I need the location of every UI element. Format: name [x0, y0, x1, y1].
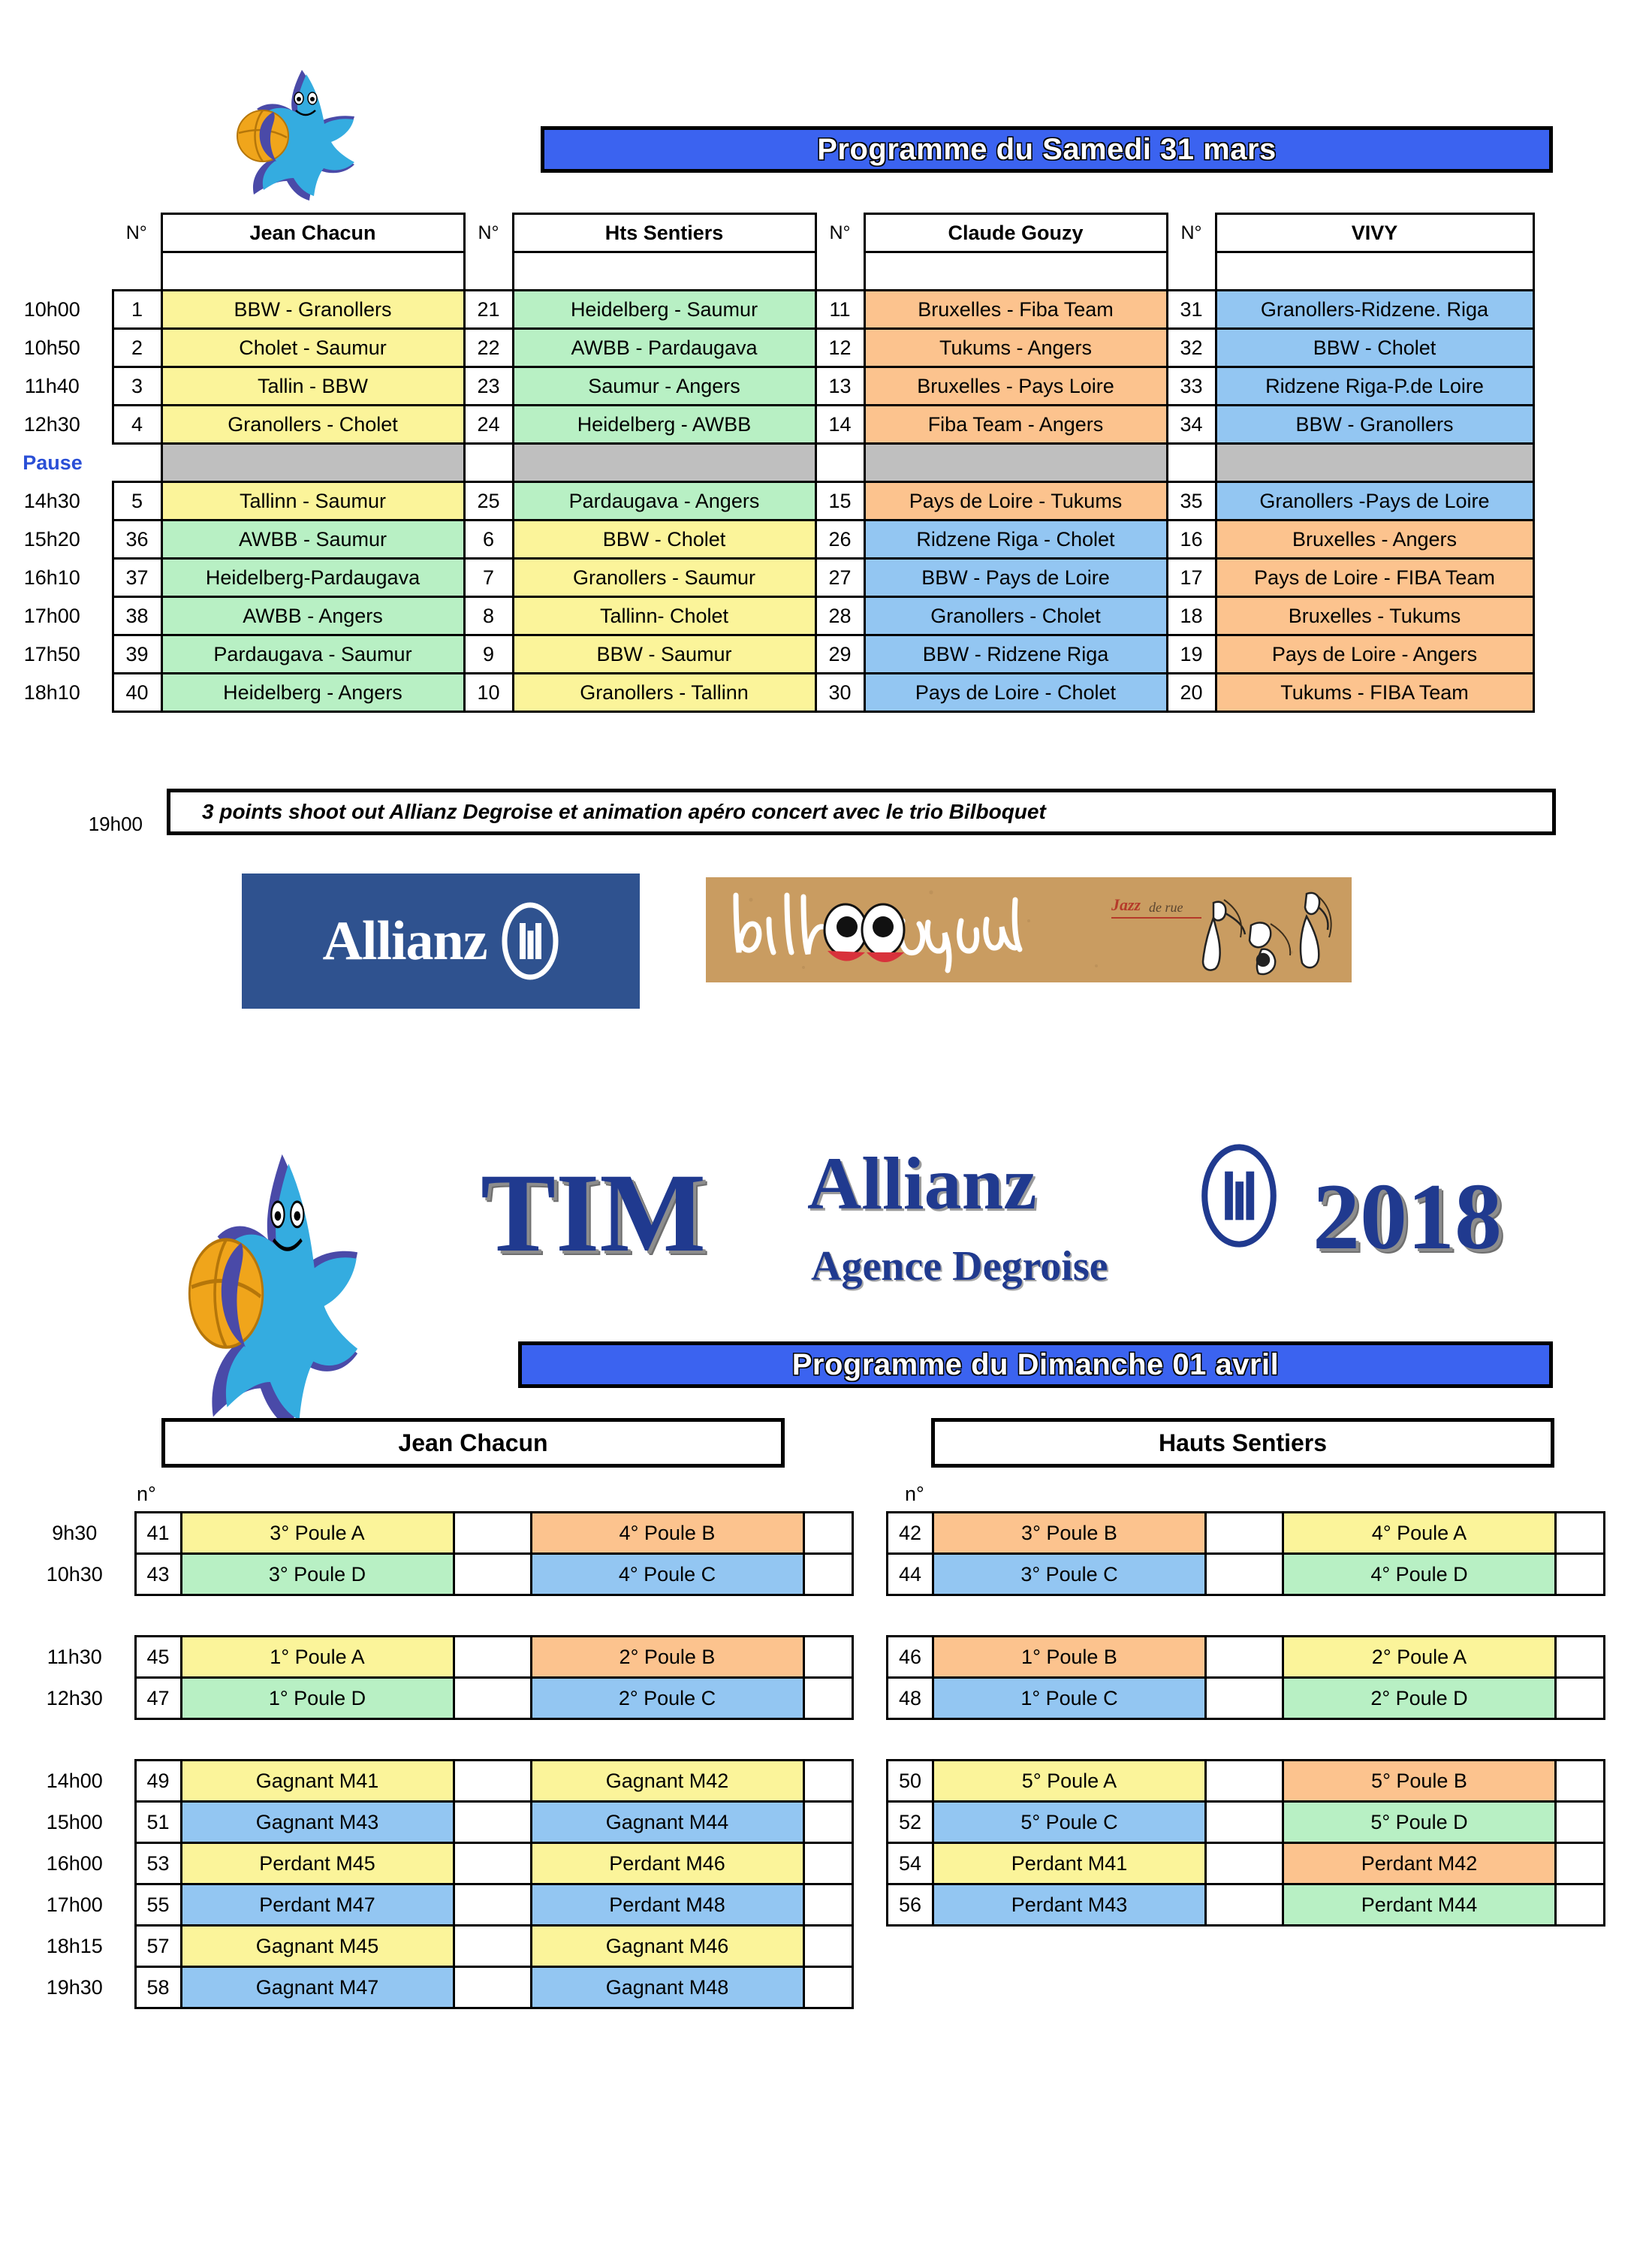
- score-cell-b[interactable]: [1556, 1637, 1605, 1678]
- sunday-left-court-header: Jean Chacun: [161, 1418, 785, 1468]
- match-number[interactable]: 49: [135, 1761, 181, 1802]
- match-team-b[interactable]: Perdant M46: [531, 1843, 803, 1884]
- match-number[interactable]: 43: [135, 1554, 181, 1595]
- match-team-b[interactable]: Gagnant M48: [531, 1967, 803, 2008]
- sunday-right-n-label: n°: [905, 1483, 924, 1506]
- match-team-a[interactable]: 1° Poule C: [933, 1678, 1206, 1719]
- pause-label: Pause: [0, 444, 113, 482]
- score-cell-b[interactable]: [1556, 1554, 1605, 1595]
- match-cell[interactable]: Tallinn- Cholet: [513, 597, 815, 635]
- evening-event-time: 19h00: [23, 813, 143, 836]
- pause-cell: [513, 444, 815, 482]
- list-item: 56Perdant M43Perdant M44: [888, 1884, 1605, 1926]
- table-row: 10h502Cholet - Saumur22AWBB - Pardaugava…: [0, 329, 1533, 367]
- match-number[interactable]: 15: [815, 482, 864, 520]
- match-cell[interactable]: Bruxelles - Fiba Team: [864, 291, 1167, 329]
- match-number[interactable]: 48: [888, 1678, 933, 1719]
- score-cell-b[interactable]: [803, 1926, 852, 1967]
- match-team-a[interactable]: Gagnant M41: [181, 1761, 454, 1802]
- match-team-a[interactable]: Perdant M45: [181, 1843, 454, 1884]
- tim-allianz-wordmark: Allianz: [807, 1146, 1037, 1221]
- match-number[interactable]: 16: [1167, 520, 1216, 559]
- court-header-3: Claude Gouzy: [864, 214, 1167, 252]
- sunday-group-gap: [23, 1719, 852, 1761]
- court-header-2: Hts Sentiers: [513, 214, 815, 252]
- match-cell[interactable]: Bruxelles - Angers: [1216, 520, 1533, 559]
- list-item: 11h30451° Poule A2° Poule B: [23, 1637, 852, 1678]
- match-number[interactable]: 54: [888, 1843, 933, 1884]
- match-number[interactable]: 58: [135, 1967, 181, 2008]
- match-cell[interactable]: Ridzene Riga - Cholet: [864, 520, 1167, 559]
- list-item: 525° Poule C5° Poule D: [888, 1802, 1605, 1843]
- match-time: 12h30: [23, 1678, 135, 1719]
- score-cell-a[interactable]: [1206, 1802, 1283, 1843]
- score-cell-a[interactable]: [454, 1513, 531, 1554]
- match-cell[interactable]: AWBB - Pardaugava: [513, 329, 815, 367]
- table-row: 14h305Tallinn - Saumur25Pardaugava - Ang…: [0, 482, 1533, 520]
- table-row: 17h5039Pardaugava - Saumur9BBW - Saumur2…: [0, 635, 1533, 674]
- match-number[interactable]: 34: [1167, 406, 1216, 444]
- octopus-mascot-top-icon: [218, 64, 390, 207]
- match-cell[interactable]: Ridzene Riga-P.de Loire: [1216, 367, 1533, 406]
- score-cell-b[interactable]: [803, 1554, 852, 1595]
- score-cell-a[interactable]: [1206, 1554, 1283, 1595]
- match-team-a[interactable]: 1° Poule D: [181, 1678, 454, 1719]
- match-number[interactable]: 20: [1167, 674, 1216, 712]
- match-number[interactable]: 55: [135, 1884, 181, 1926]
- match-time: 10h00: [0, 291, 113, 329]
- match-number[interactable]: 47: [135, 1678, 181, 1719]
- match-team-b[interactable]: 2° Poule B: [531, 1637, 803, 1678]
- match-cell[interactable]: Pays de Loire - Tukums: [864, 482, 1167, 520]
- match-team-b[interactable]: Perdant M42: [1283, 1843, 1556, 1884]
- match-number[interactable]: 24: [464, 406, 513, 444]
- match-number[interactable]: 8: [464, 597, 513, 635]
- match-number[interactable]: 42: [888, 1513, 933, 1554]
- score-cell-a[interactable]: [1206, 1843, 1283, 1884]
- list-item: 15h0051Gagnant M43Gagnant M44: [23, 1802, 852, 1843]
- match-team-a[interactable]: 5° Poule A: [933, 1761, 1206, 1802]
- score-cell-b[interactable]: [1556, 1761, 1605, 1802]
- list-item: 505° Poule A5° Poule B: [888, 1761, 1605, 1802]
- allianz-bars-icon-secondary: [1194, 1143, 1284, 1248]
- score-cell-a[interactable]: [454, 1554, 531, 1595]
- match-time: 19h30: [23, 1967, 135, 2008]
- match-cell[interactable]: Pardaugava - Saumur: [161, 635, 464, 674]
- match-time: 10h30: [23, 1554, 135, 1595]
- score-cell-b[interactable]: [803, 1761, 852, 1802]
- svg-text:de rue: de rue: [1149, 900, 1183, 915]
- match-time: 18h10: [0, 674, 113, 712]
- match-number[interactable]: 25: [464, 482, 513, 520]
- match-cell[interactable]: Tukums - Angers: [864, 329, 1167, 367]
- match-team-a[interactable]: Perdant M47: [181, 1884, 454, 1926]
- list-item: 10h30433° Poule D4° Poule C: [23, 1554, 852, 1595]
- tim-allianz-2018-logo: TIM Allianz Agence Degroise 2018: [481, 1149, 1562, 1337]
- court-num-label: N°: [113, 214, 161, 252]
- saturday-pause-row: Pause: [0, 444, 1533, 482]
- match-team-b[interactable]: Perdant M48: [531, 1884, 803, 1926]
- match-number[interactable]: 22: [464, 329, 513, 367]
- match-cell[interactable]: BBW - Cholet: [1216, 329, 1533, 367]
- match-number[interactable]: 51: [135, 1802, 181, 1843]
- match-number[interactable]: 5: [113, 482, 161, 520]
- svg-text:Jazz: Jazz: [1111, 895, 1141, 914]
- evening-event-text: 3 points shoot out Allianz Degroise et a…: [170, 800, 1046, 824]
- match-team-b[interactable]: 4° Poule B: [531, 1513, 803, 1554]
- match-team-b[interactable]: Perdant M44: [1283, 1884, 1556, 1926]
- table-row: 12h304Granollers - Cholet24Heidelberg - …: [0, 406, 1533, 444]
- match-cell[interactable]: Granollers - Tallinn: [513, 674, 815, 712]
- match-cell[interactable]: Cholet - Saumur: [161, 329, 464, 367]
- match-cell[interactable]: Pays de Loire - Angers: [1216, 635, 1533, 674]
- match-number[interactable]: 46: [888, 1637, 933, 1678]
- match-team-b[interactable]: Gagnant M42: [531, 1761, 803, 1802]
- match-number[interactable]: 30: [815, 674, 864, 712]
- match-cell[interactable]: BBW - Granollers: [161, 291, 464, 329]
- match-time: 14h00: [23, 1761, 135, 1802]
- list-item: 18h1557Gagnant M45Gagnant M46: [23, 1926, 852, 1967]
- court-header-1: Jean Chacun: [161, 214, 464, 252]
- score-cell-a[interactable]: [1206, 1761, 1283, 1802]
- sunday-group-gap: [23, 1595, 852, 1637]
- match-cell[interactable]: Pardaugava - Angers: [513, 482, 815, 520]
- match-team-b[interactable]: 4° Poule C: [531, 1554, 803, 1595]
- match-number[interactable]: 26: [815, 520, 864, 559]
- match-team-a[interactable]: Gagnant M47: [181, 1967, 454, 2008]
- match-number[interactable]: 27: [815, 559, 864, 597]
- table-row: 10h001BBW - Granollers21Heidelberg - Sau…: [0, 291, 1533, 329]
- match-team-a[interactable]: Perdant M41: [933, 1843, 1206, 1884]
- match-number[interactable]: 6: [464, 520, 513, 559]
- match-time: 10h50: [0, 329, 113, 367]
- match-number[interactable]: 3: [113, 367, 161, 406]
- match-number[interactable]: 13: [815, 367, 864, 406]
- court-num-label: N°: [1167, 214, 1216, 252]
- list-item: 14h0049Gagnant M41Gagnant M42: [23, 1761, 852, 1802]
- pause-cell: [864, 444, 1167, 482]
- score-cell-a[interactable]: [454, 1926, 531, 1967]
- match-team-b[interactable]: 5° Poule B: [1283, 1761, 1556, 1802]
- match-cell[interactable]: BBW - Cholet: [513, 520, 815, 559]
- score-cell-a[interactable]: [1206, 1678, 1283, 1719]
- match-number[interactable]: 12: [815, 329, 864, 367]
- header-time-spacer: [0, 214, 113, 252]
- saturday-banner: Programme du Samedi 31 mars: [541, 126, 1553, 173]
- saturday-header-spacer-row: [0, 252, 1533, 291]
- match-time: 17h00: [0, 597, 113, 635]
- match-number[interactable]: 9: [464, 635, 513, 674]
- list-item: 12h30471° Poule D2° Poule C: [23, 1678, 852, 1719]
- match-cell[interactable]: Tukums - FIBA Team: [1216, 674, 1533, 712]
- match-number[interactable]: 57: [135, 1926, 181, 1967]
- score-cell-b[interactable]: [1556, 1802, 1605, 1843]
- bilboquet-sponsor-banner: Jazz de rue: [706, 877, 1352, 982]
- match-cell[interactable]: Granollers-Ridzene. Riga: [1216, 291, 1533, 329]
- score-cell-a[interactable]: [1206, 1884, 1283, 1926]
- match-cell[interactable]: Pays de Loire - Cholet: [864, 674, 1167, 712]
- score-cell-a[interactable]: [454, 1637, 531, 1678]
- sunday-right-court-label: Hauts Sentiers: [1159, 1429, 1327, 1457]
- list-item: 19h3058Gagnant M47Gagnant M48: [23, 1967, 852, 2008]
- list-item: 17h0055Perdant M47Perdant M48: [23, 1884, 852, 1926]
- list-item: 16h0053Perdant M45Perdant M46: [23, 1843, 852, 1884]
- score-cell-a[interactable]: [454, 1967, 531, 2008]
- allianz-bars-icon: [501, 902, 559, 980]
- match-team-a[interactable]: Gagnant M43: [181, 1802, 454, 1843]
- match-number[interactable]: 21: [464, 291, 513, 329]
- match-number[interactable]: 1: [113, 291, 161, 329]
- match-time: 17h50: [0, 635, 113, 674]
- sunday-group-gap: [888, 1595, 1605, 1637]
- match-team-b[interactable]: 4° Poule D: [1283, 1554, 1556, 1595]
- score-cell-b[interactable]: [1556, 1678, 1605, 1719]
- match-number[interactable]: 36: [113, 520, 161, 559]
- table-row: 18h1040Heidelberg - Angers10Granollers -…: [0, 674, 1533, 712]
- match-team-a[interactable]: 3° Poule C: [933, 1554, 1206, 1595]
- header-spacer-cell: [1216, 252, 1533, 291]
- header-spacer-cell: [864, 252, 1167, 291]
- score-cell-a[interactable]: [1206, 1637, 1283, 1678]
- match-number[interactable]: 11: [815, 291, 864, 329]
- match-cell[interactable]: Bruxelles - Pays Loire: [864, 367, 1167, 406]
- match-number[interactable]: 31: [1167, 291, 1216, 329]
- score-cell-a[interactable]: [454, 1761, 531, 1802]
- match-number[interactable]: 40: [113, 674, 161, 712]
- score-cell-b[interactable]: [803, 1884, 852, 1926]
- match-cell[interactable]: BBW - Ridzene Riga: [864, 635, 1167, 674]
- match-team-a[interactable]: 3° Poule B: [933, 1513, 1206, 1554]
- score-cell-b[interactable]: [1556, 1884, 1605, 1926]
- table-row: 17h0038AWBB - Angers8Tallinn- Cholet28Gr…: [0, 597, 1533, 635]
- match-cell[interactable]: Heidelberg - Angers: [161, 674, 464, 712]
- match-number[interactable]: 56: [888, 1884, 933, 1926]
- match-time: 14h30: [0, 482, 113, 520]
- match-number[interactable]: 7: [464, 559, 513, 597]
- sunday-left-court-label: Jean Chacun: [398, 1429, 547, 1457]
- match-number[interactable]: 45: [135, 1637, 181, 1678]
- tim-year: 2018: [1313, 1170, 1502, 1265]
- court-header-4: VIVY: [1216, 214, 1533, 252]
- match-time: 15h00: [23, 1802, 135, 1843]
- match-number[interactable]: 10: [464, 674, 513, 712]
- match-number[interactable]: 4: [113, 406, 161, 444]
- sunday-right-schedule-table: 423° Poule B4° Poule A443° Poule C4° Pou…: [886, 1511, 1605, 1927]
- score-cell-b[interactable]: [803, 1802, 852, 1843]
- score-cell-a[interactable]: [454, 1802, 531, 1843]
- match-cell[interactable]: Pays de Loire - FIBA Team: [1216, 559, 1533, 597]
- match-time: 12h30: [0, 406, 113, 444]
- match-number[interactable]: 41: [135, 1513, 181, 1554]
- saturday-schedule-container: N°Jean ChacunN°Hts SentiersN°Claude Gouz…: [0, 213, 1535, 713]
- match-cell[interactable]: BBW - Saumur: [513, 635, 815, 674]
- match-cell[interactable]: Heidelberg - AWBB: [513, 406, 815, 444]
- match-cell[interactable]: Heidelberg - Saumur: [513, 291, 815, 329]
- header-spacer-cell: [161, 252, 464, 291]
- match-number[interactable]: 29: [815, 635, 864, 674]
- match-team-a[interactable]: 3° Poule A: [181, 1513, 454, 1554]
- match-number[interactable]: 19: [1167, 635, 1216, 674]
- match-cell[interactable]: Heidelberg-Pardaugava: [161, 559, 464, 597]
- sunday-group-gap: [888, 1719, 1605, 1761]
- match-number[interactable]: 32: [1167, 329, 1216, 367]
- match-number[interactable]: 37: [113, 559, 161, 597]
- sunday-right-court-header: Hauts Sentiers: [931, 1418, 1554, 1468]
- tim-agence-wordmark: Agence Degroise: [811, 1245, 1108, 1287]
- match-team-a[interactable]: 3° Poule D: [181, 1554, 454, 1595]
- octopus-mascot-bottom-icon: [161, 1142, 409, 1442]
- match-cell[interactable]: Tallinn - Saumur: [161, 482, 464, 520]
- match-number[interactable]: 17: [1167, 559, 1216, 597]
- pause-cell: [161, 444, 464, 482]
- match-time: 16h10: [0, 559, 113, 597]
- header-spacer-cell: [513, 252, 815, 291]
- score-cell-b[interactable]: [803, 1678, 852, 1719]
- match-cell[interactable]: BBW - Pays de Loire: [864, 559, 1167, 597]
- match-cell[interactable]: AWBB - Angers: [161, 597, 464, 635]
- match-team-a[interactable]: Gagnant M45: [181, 1926, 454, 1967]
- list-item: 54Perdant M41Perdant M42: [888, 1843, 1605, 1884]
- score-cell-b[interactable]: [1556, 1513, 1605, 1554]
- sunday-banner-title: Programme du Dimanche 01 avril: [792, 1348, 1280, 1382]
- match-number[interactable]: 53: [135, 1843, 181, 1884]
- court-num-label: N°: [815, 214, 864, 252]
- score-cell-a[interactable]: [454, 1884, 531, 1926]
- match-time: 11h40: [0, 367, 113, 406]
- match-number[interactable]: 35: [1167, 482, 1216, 520]
- match-team-a[interactable]: Perdant M43: [933, 1884, 1206, 1926]
- list-item: 461° Poule B2° Poule A: [888, 1637, 1605, 1678]
- score-cell-b[interactable]: [803, 1513, 852, 1554]
- table-row: 15h2036AWBB - Saumur6BBW - Cholet26Ridze…: [0, 520, 1533, 559]
- match-team-b[interactable]: Gagnant M46: [531, 1926, 803, 1967]
- match-cell[interactable]: Tallin - BBW: [161, 367, 464, 406]
- match-time: 9h30: [23, 1513, 135, 1554]
- allianz-sponsor-logo: Allianz: [242, 874, 640, 1009]
- score-cell-a[interactable]: [454, 1843, 531, 1884]
- match-team-b[interactable]: 5° Poule D: [1283, 1802, 1556, 1843]
- sunday-left-schedule-table: 9h30413° Poule A4° Poule B10h30433° Poul…: [23, 1511, 854, 2009]
- match-team-a[interactable]: 5° Poule C: [933, 1802, 1206, 1843]
- match-cell[interactable]: Granollers - Cholet: [161, 406, 464, 444]
- match-number[interactable]: 28: [815, 597, 864, 635]
- match-number[interactable]: 52: [888, 1802, 933, 1843]
- match-cell[interactable]: AWBB - Saumur: [161, 520, 464, 559]
- score-cell-b[interactable]: [803, 1967, 852, 2008]
- match-number[interactable]: 39: [113, 635, 161, 674]
- court-num-label: N°: [464, 214, 513, 252]
- match-number[interactable]: 18: [1167, 597, 1216, 635]
- list-item: 481° Poule C2° Poule D: [888, 1678, 1605, 1719]
- table-row: 16h1037Heidelberg-Pardaugava7Granollers …: [0, 559, 1533, 597]
- match-cell[interactable]: Granollers - Cholet: [864, 597, 1167, 635]
- match-team-b[interactable]: 2° Poule A: [1283, 1637, 1556, 1678]
- match-number[interactable]: 38: [113, 597, 161, 635]
- tim-wordmark: TIM: [481, 1157, 706, 1269]
- match-number[interactable]: 14: [815, 406, 864, 444]
- list-item: 443° Poule C4° Poule D: [888, 1554, 1605, 1595]
- saturday-schedule-table: N°Jean ChacunN°Hts SentiersN°Claude Gouz…: [0, 213, 1535, 713]
- score-cell-b[interactable]: [803, 1843, 852, 1884]
- match-team-b[interactable]: 4° Poule A: [1283, 1513, 1556, 1554]
- pause-cell: [1216, 444, 1533, 482]
- match-time: 18h15: [23, 1926, 135, 1967]
- match-cell[interactable]: Bruxelles - Tukums: [1216, 597, 1533, 635]
- match-time: 17h00: [23, 1884, 135, 1926]
- match-team-b[interactable]: 2° Poule C: [531, 1678, 803, 1719]
- match-team-a[interactable]: 1° Poule B: [933, 1637, 1206, 1678]
- score-cell-b[interactable]: [1556, 1843, 1605, 1884]
- table-row: 11h403Tallin - BBW23Saumur - Angers13Bru…: [0, 367, 1533, 406]
- saturday-banner-title: Programme du Samedi 31 mars: [817, 133, 1277, 167]
- match-number[interactable]: 33: [1167, 367, 1216, 406]
- match-cell[interactable]: Granollers -Pays de Loire: [1216, 482, 1533, 520]
- match-cell[interactable]: Saumur - Angers: [513, 367, 815, 406]
- match-team-b[interactable]: Gagnant M44: [531, 1802, 803, 1843]
- match-number[interactable]: 23: [464, 367, 513, 406]
- match-time: 15h20: [0, 520, 113, 559]
- match-cell[interactable]: Fiba Team - Angers: [864, 406, 1167, 444]
- score-cell-a[interactable]: [454, 1678, 531, 1719]
- match-time: 16h00: [23, 1843, 135, 1884]
- evening-event-box: 3 points shoot out Allianz Degroise et a…: [167, 789, 1556, 835]
- match-team-a[interactable]: 1° Poule A: [181, 1637, 454, 1678]
- saturday-header-row: N°Jean ChacunN°Hts SentiersN°Claude Gouz…: [0, 214, 1533, 252]
- match-number[interactable]: 44: [888, 1554, 933, 1595]
- list-item: 423° Poule B4° Poule A: [888, 1513, 1605, 1554]
- allianz-wordmark: Allianz: [322, 910, 487, 973]
- sunday-left-n-label: n°: [137, 1483, 156, 1506]
- score-cell-a[interactable]: [1206, 1513, 1283, 1554]
- list-item: 9h30413° Poule A4° Poule B: [23, 1513, 852, 1554]
- match-time: 11h30: [23, 1637, 135, 1678]
- tournament-schedule-page: Programme du Samedi 31 mars N°Jean Chacu…: [0, 0, 1652, 2260]
- score-cell-b[interactable]: [803, 1637, 852, 1678]
- match-number[interactable]: 50: [888, 1761, 933, 1802]
- match-cell[interactable]: BBW - Granollers: [1216, 406, 1533, 444]
- match-cell[interactable]: Granollers - Saumur: [513, 559, 815, 597]
- match-team-b[interactable]: 2° Poule D: [1283, 1678, 1556, 1719]
- sunday-banner: Programme du Dimanche 01 avril: [518, 1341, 1553, 1388]
- match-number[interactable]: 2: [113, 329, 161, 367]
